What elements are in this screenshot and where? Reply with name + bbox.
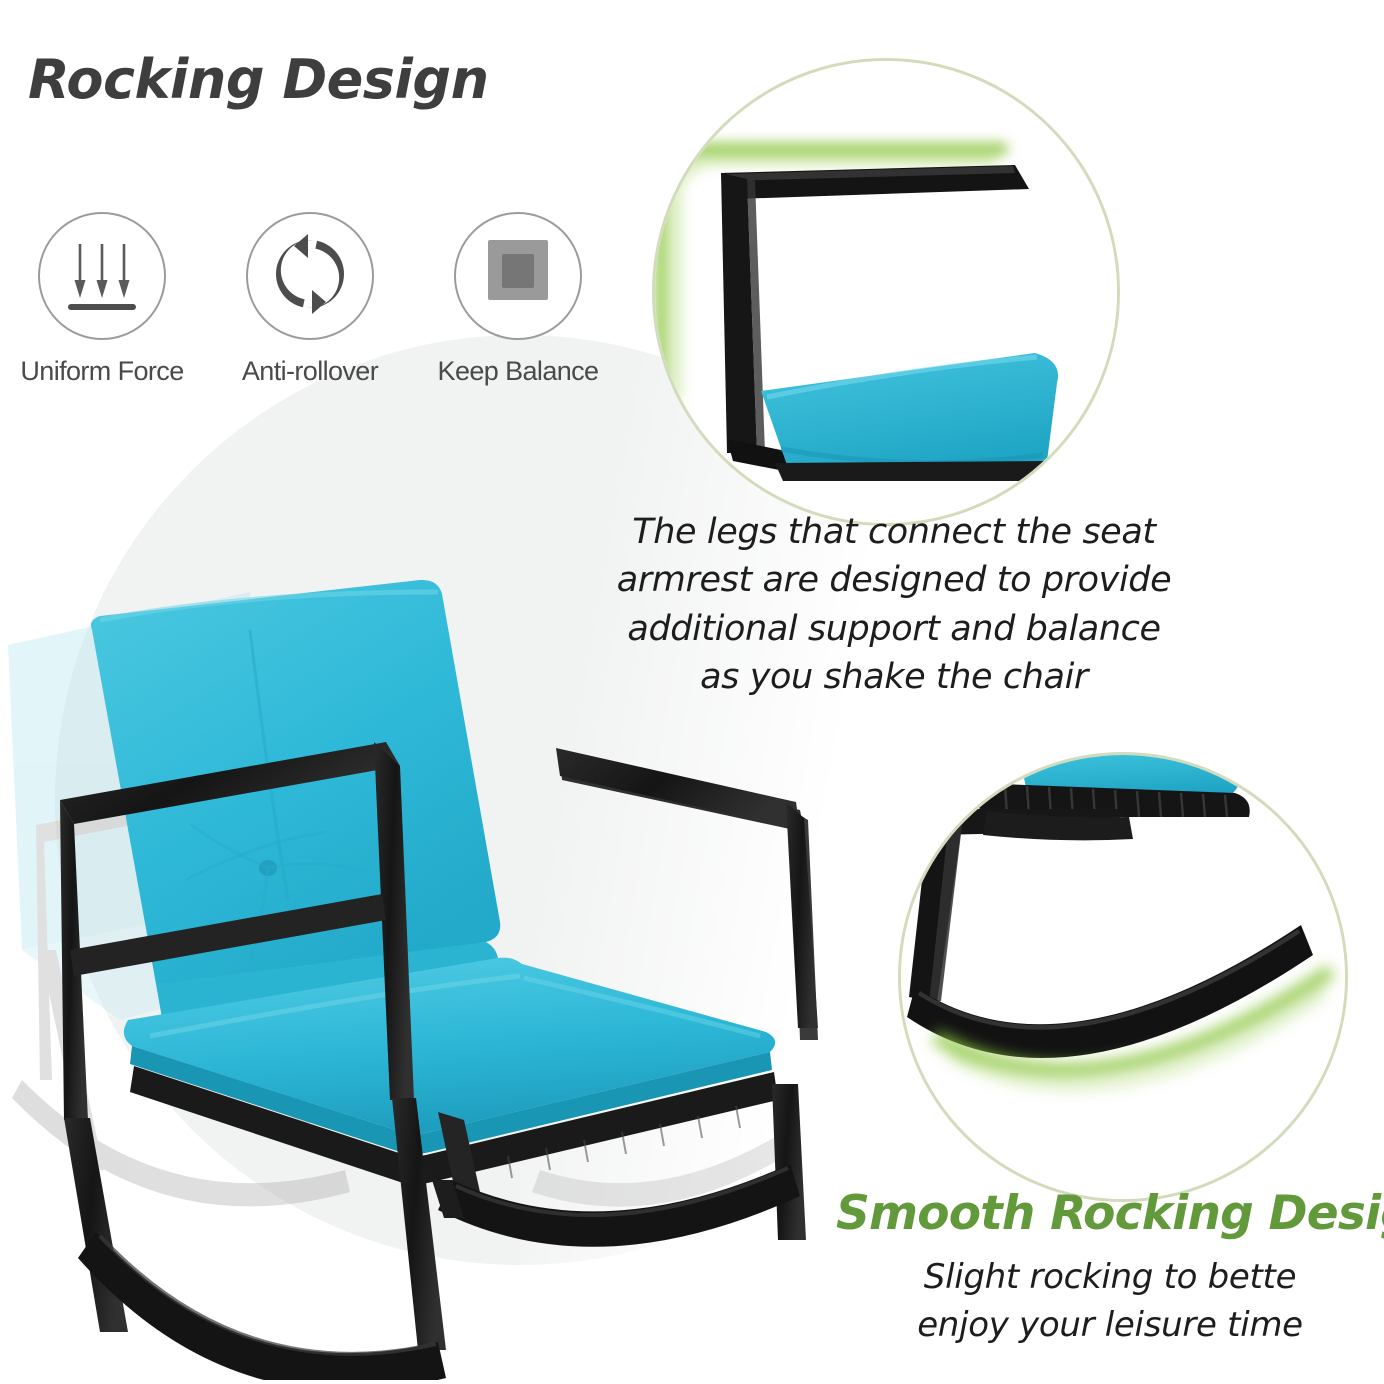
feature-keep-balance: Keep Balance — [428, 212, 608, 387]
feature-label: Uniform Force — [20, 356, 183, 387]
caption-line: as you shake the chair — [596, 653, 1192, 701]
page-title: Rocking Design — [28, 48, 489, 111]
subtitle-line: Slight rocking to bette — [836, 1253, 1384, 1301]
section-title-smooth-rocking: Smooth Rocking Design — [836, 1186, 1384, 1241]
circular-rotation-arrows-icon — [264, 228, 356, 325]
inset-armrest-leg-closeup — [652, 58, 1120, 526]
right-leg — [772, 1084, 806, 1240]
caption-line: The legs that connect the seat — [596, 508, 1192, 556]
feature-icon-badge — [246, 212, 374, 340]
feature-label: Anti-rollover — [242, 356, 378, 387]
left-rocker-runner — [78, 1232, 446, 1380]
infographic-canvas: Rocking Design — [0, 0, 1384, 1384]
inset-rocker-base-closeup — [898, 752, 1348, 1202]
inset-top-caption: The legs that connect the seat armrest a… — [596, 508, 1192, 701]
nested-squares-icon — [472, 228, 564, 325]
subtitle-line: enjoy your leisure time — [836, 1301, 1384, 1349]
feature-anti-rollover: Anti-rollover — [220, 212, 400, 387]
caption-line: armrest are designed to provide — [596, 556, 1192, 604]
downward-arrows-on-bar-icon — [56, 228, 148, 325]
caption-line: additional support and balance — [596, 605, 1192, 653]
feature-list: Uniform Force Anti-rollover — [12, 212, 608, 387]
feature-label: Keep Balance — [438, 356, 599, 387]
feature-icon-badge — [454, 212, 582, 340]
feature-icon-badge — [38, 212, 166, 340]
section-subtitle: Slight rocking to bette enjoy your leisu… — [836, 1253, 1384, 1350]
bottom-text-block: Smooth Rocking Design Slight rocking to … — [836, 1186, 1384, 1350]
feature-uniform-force: Uniform Force — [12, 212, 192, 387]
